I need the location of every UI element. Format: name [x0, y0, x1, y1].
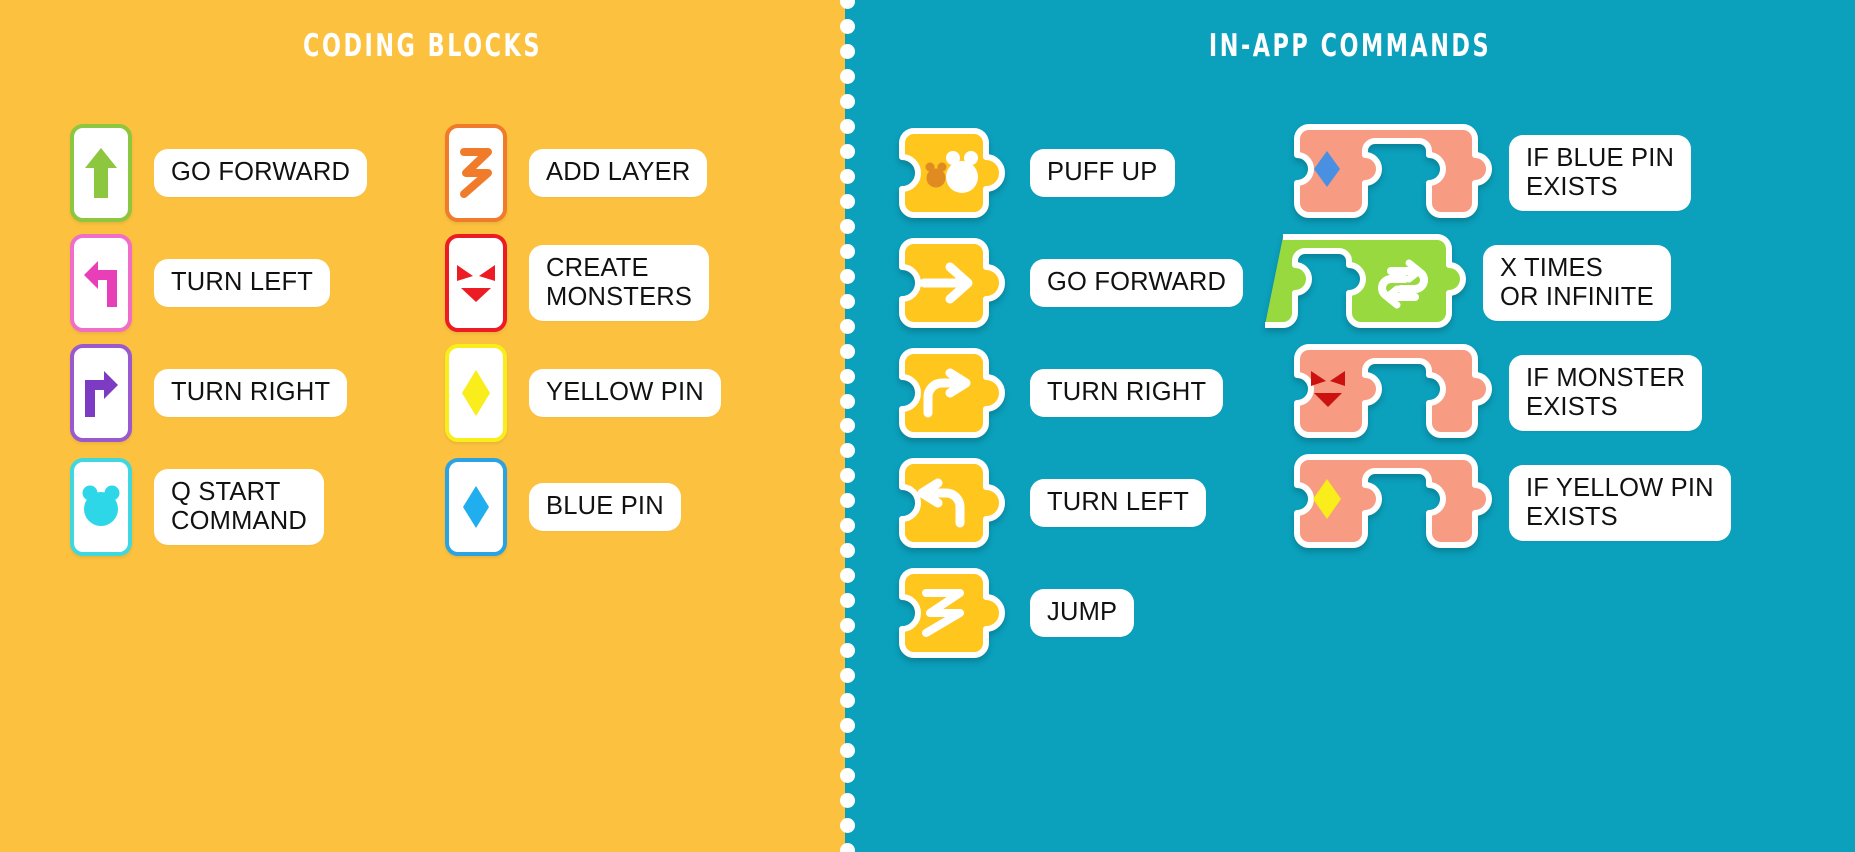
card-turn-right[interactable] — [70, 344, 132, 442]
list-item[interactable]: GO FORWARD — [70, 118, 445, 228]
card-add-layer[interactable] — [445, 124, 507, 222]
list-item[interactable]: TURN LEFT — [900, 448, 1295, 558]
list-item[interactable]: TURN RIGHT — [70, 338, 445, 448]
block-label: BLUE PIN — [533, 487, 677, 527]
block-label: TURN RIGHT — [158, 373, 343, 413]
label-wrap: TURN LEFT — [1034, 483, 1202, 523]
card-go-forward[interactable] — [70, 124, 132, 222]
label-wrap: TURN RIGHT — [158, 373, 343, 413]
list-item[interactable]: CREATE MONSTERS — [445, 228, 820, 338]
label-wrap: CREATE MONSTERS — [533, 249, 705, 317]
arrow-up-icon — [83, 146, 119, 200]
mascot-head-icon — [79, 483, 123, 531]
loop-block-x-times-or-infinite[interactable] — [1269, 233, 1469, 333]
card-create-monsters[interactable] — [445, 234, 507, 332]
list-item[interactable]: IF BLUE PIN EXISTS — [1295, 118, 1855, 228]
list-item[interactable]: IF MONSTER EXISTS — [1295, 338, 1855, 448]
list-item[interactable]: TURN RIGHT — [900, 338, 1295, 448]
list-item[interactable]: TURN LEFT — [70, 228, 445, 338]
arrow-turn-right-icon — [81, 367, 121, 419]
conditional-block-if-yellow-pin[interactable] — [1295, 453, 1495, 553]
card-q-start-command[interactable] — [70, 458, 132, 556]
block-label: IF YELLOW PIN EXISTS — [1513, 469, 1727, 537]
coding-blocks-column-b: ADD LAYER — [445, 118, 820, 566]
block-label: CREATE MONSTERS — [533, 249, 705, 317]
coding-blocks-grid: GO FORWARD TURN LEFT — [0, 118, 845, 566]
card-yellow-pin[interactable] — [445, 344, 507, 442]
list-item[interactable]: BLUE PIN — [445, 448, 820, 566]
label-wrap: JUMP — [1034, 593, 1130, 633]
puzzle-block-turn-right[interactable] — [900, 347, 1010, 439]
list-item[interactable]: IF YELLOW PIN EXISTS — [1295, 448, 1855, 558]
arrow-turn-left-icon — [81, 257, 121, 309]
block-label: X TIMES OR INFINITE — [1487, 249, 1667, 317]
block-label: IF BLUE PIN EXISTS — [1513, 139, 1687, 207]
label-wrap: X TIMES OR INFINITE — [1487, 249, 1667, 317]
block-label: ADD LAYER — [533, 153, 703, 193]
label-wrap: GO FORWARD — [1034, 263, 1239, 303]
block-label: GO FORWARD — [158, 153, 363, 193]
label-wrap: IF YELLOW PIN EXISTS — [1513, 469, 1727, 537]
in-app-commands-column-b: IF BLUE PIN EXISTS — [1295, 118, 1855, 668]
block-label: PUFF UP — [1034, 153, 1171, 193]
list-item[interactable]: ADD LAYER — [445, 118, 820, 228]
block-label: YELLOW PIN — [533, 373, 717, 413]
block-label: JUMP — [1034, 593, 1130, 633]
label-wrap: GO FORWARD — [158, 153, 363, 193]
conditional-block-if-monster[interactable] — [1295, 343, 1495, 443]
coding-blocks-panel: CODING BLOCKS GO FORWARD — [0, 0, 845, 852]
puzzle-block-turn-left[interactable] — [900, 457, 1010, 549]
list-item[interactable]: PUFF UP — [900, 118, 1295, 228]
conditional-block-if-blue-pin[interactable] — [1295, 123, 1495, 223]
in-app-commands-title: IN-APP COMMANDS — [986, 28, 1713, 64]
list-item[interactable]: JUMP — [900, 558, 1295, 668]
block-label: TURN LEFT — [158, 263, 326, 303]
list-item[interactable]: Q START COMMAND — [70, 448, 445, 566]
list-item[interactable]: GO FORWARD — [900, 228, 1295, 338]
in-app-commands-panel: IN-APP COMMANDS — [845, 0, 1855, 852]
card-turn-left[interactable] — [70, 234, 132, 332]
block-label: TURN LEFT — [1034, 483, 1202, 523]
block-label: Q START COMMAND — [158, 473, 320, 541]
in-app-commands-grid: PUFF UP GO — [845, 118, 1855, 668]
label-wrap: PUFF UP — [1034, 153, 1171, 193]
label-wrap: Q START COMMAND — [158, 473, 320, 541]
list-item[interactable]: X TIMES OR INFINITE — [1295, 228, 1855, 338]
label-wrap: IF MONSTER EXISTS — [1513, 359, 1698, 427]
label-wrap: YELLOW PIN — [533, 373, 717, 413]
infographic-page: CODING BLOCKS GO FORWARD — [0, 0, 1855, 852]
block-label: TURN RIGHT — [1034, 373, 1219, 413]
label-wrap: TURN RIGHT — [1034, 373, 1219, 413]
coding-blocks-title: CODING BLOCKS — [118, 28, 726, 64]
block-label: IF MONSTER EXISTS — [1513, 359, 1698, 427]
label-wrap: BLUE PIN — [533, 487, 677, 527]
puzzle-block-jump[interactable] — [900, 567, 1010, 659]
card-blue-pin[interactable] — [445, 458, 507, 556]
coding-blocks-column-a: GO FORWARD TURN LEFT — [70, 118, 445, 566]
block-label: GO FORWARD — [1034, 263, 1239, 303]
monster-face-icon — [455, 262, 497, 304]
label-wrap: TURN LEFT — [158, 263, 326, 303]
diamond-pin-icon — [459, 482, 493, 532]
puzzle-block-puff-up[interactable] — [900, 127, 1010, 219]
zigzag-layer-icon — [459, 147, 493, 199]
in-app-commands-column-a: PUFF UP GO — [900, 118, 1295, 668]
diamond-pin-icon — [459, 368, 493, 418]
label-wrap: ADD LAYER — [533, 153, 703, 193]
puzzle-block-go-forward[interactable] — [900, 237, 1010, 329]
list-item[interactable]: YELLOW PIN — [445, 338, 820, 448]
label-wrap: IF BLUE PIN EXISTS — [1513, 139, 1687, 207]
